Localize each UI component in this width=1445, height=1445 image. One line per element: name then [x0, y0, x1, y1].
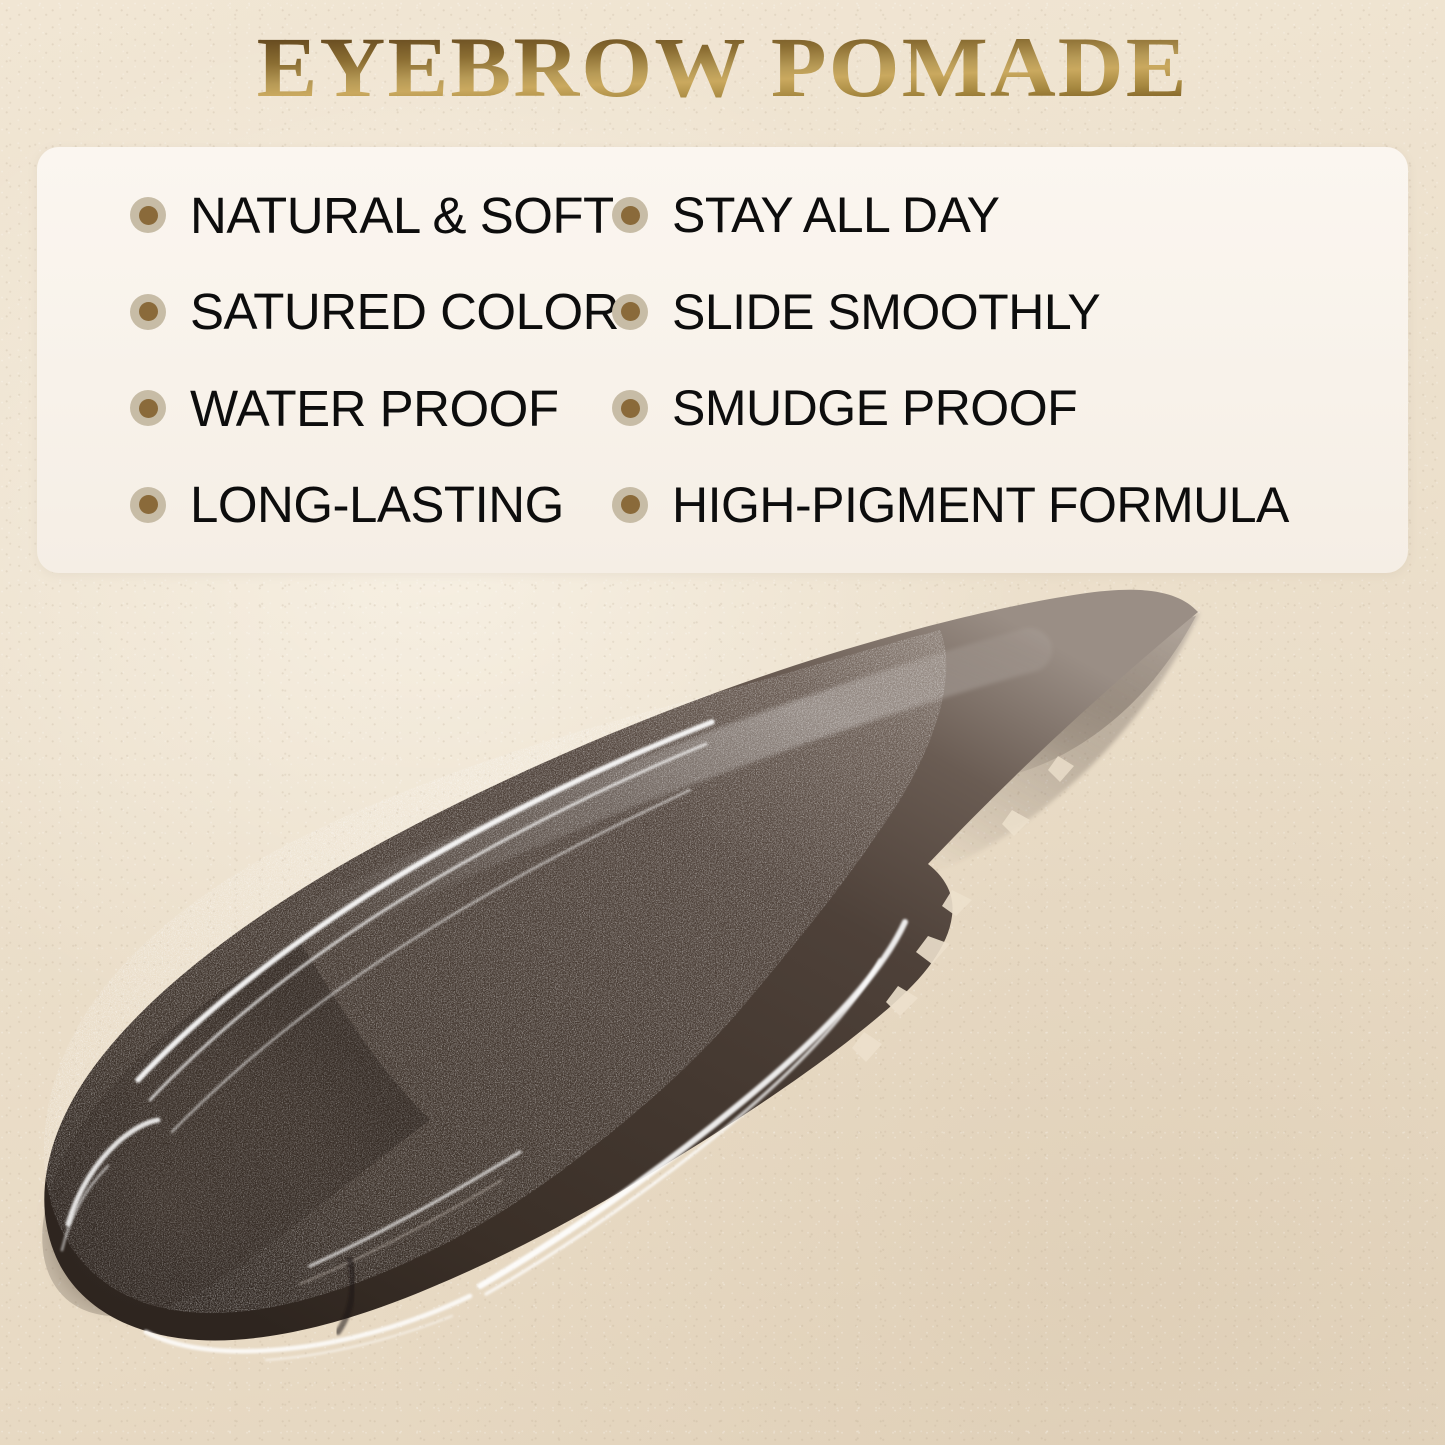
feature-label: NATURAL & SOFT [190, 190, 614, 241]
feature-row: WATER PROOF SMUDGE PROOF [37, 364, 1408, 452]
bullet-icon [612, 390, 648, 426]
pomade-swatch-graphic [0, 560, 1445, 1445]
feature-row: SATURED COLOR SLIDE SMOOTHLY [37, 268, 1408, 356]
feature-item-slide-smoothly: SLIDE SMOOTHLY [612, 287, 1408, 337]
bullet-icon [130, 294, 166, 330]
feature-item-water-proof: WATER PROOF [37, 383, 612, 434]
feature-label: LONG-LASTING [190, 479, 564, 530]
bullet-icon [612, 294, 648, 330]
feature-label: SLIDE SMOOTHLY [672, 287, 1100, 337]
page-title: EYEBROW POMADE [256, 24, 1188, 110]
bullet-icon [612, 487, 648, 523]
feature-item-stay-all-day: STAY ALL DAY [612, 190, 1408, 240]
feature-list-card: NATURAL & SOFT STAY ALL DAY SATURED COLO… [37, 147, 1408, 573]
bullet-icon [130, 390, 166, 426]
feature-label: SATURED COLOR [190, 286, 619, 337]
feature-label: HIGH-PIGMENT FORMULA [672, 480, 1289, 530]
bullet-icon [130, 487, 166, 523]
feature-row: LONG-LASTING HIGH-PIGMENT FORMULA [37, 461, 1408, 549]
bullet-icon [612, 197, 648, 233]
feature-item-natural-soft: NATURAL & SOFT [37, 190, 612, 241]
bullet-icon [130, 197, 166, 233]
page-title-container: EYEBROW POMADE [0, 24, 1445, 110]
feature-item-long-lasting: LONG-LASTING [37, 479, 612, 530]
feature-row: NATURAL & SOFT STAY ALL DAY [37, 171, 1408, 259]
feature-label: STAY ALL DAY [672, 190, 1000, 240]
product-swatch-image [0, 560, 1445, 1445]
feature-item-high-pigment-formula: HIGH-PIGMENT FORMULA [612, 480, 1408, 530]
feature-item-smudge-proof: SMUDGE PROOF [612, 383, 1408, 433]
feature-label: SMUDGE PROOF [672, 383, 1077, 433]
feature-item-satured-color: SATURED COLOR [37, 286, 612, 337]
feature-label: WATER PROOF [190, 383, 558, 434]
